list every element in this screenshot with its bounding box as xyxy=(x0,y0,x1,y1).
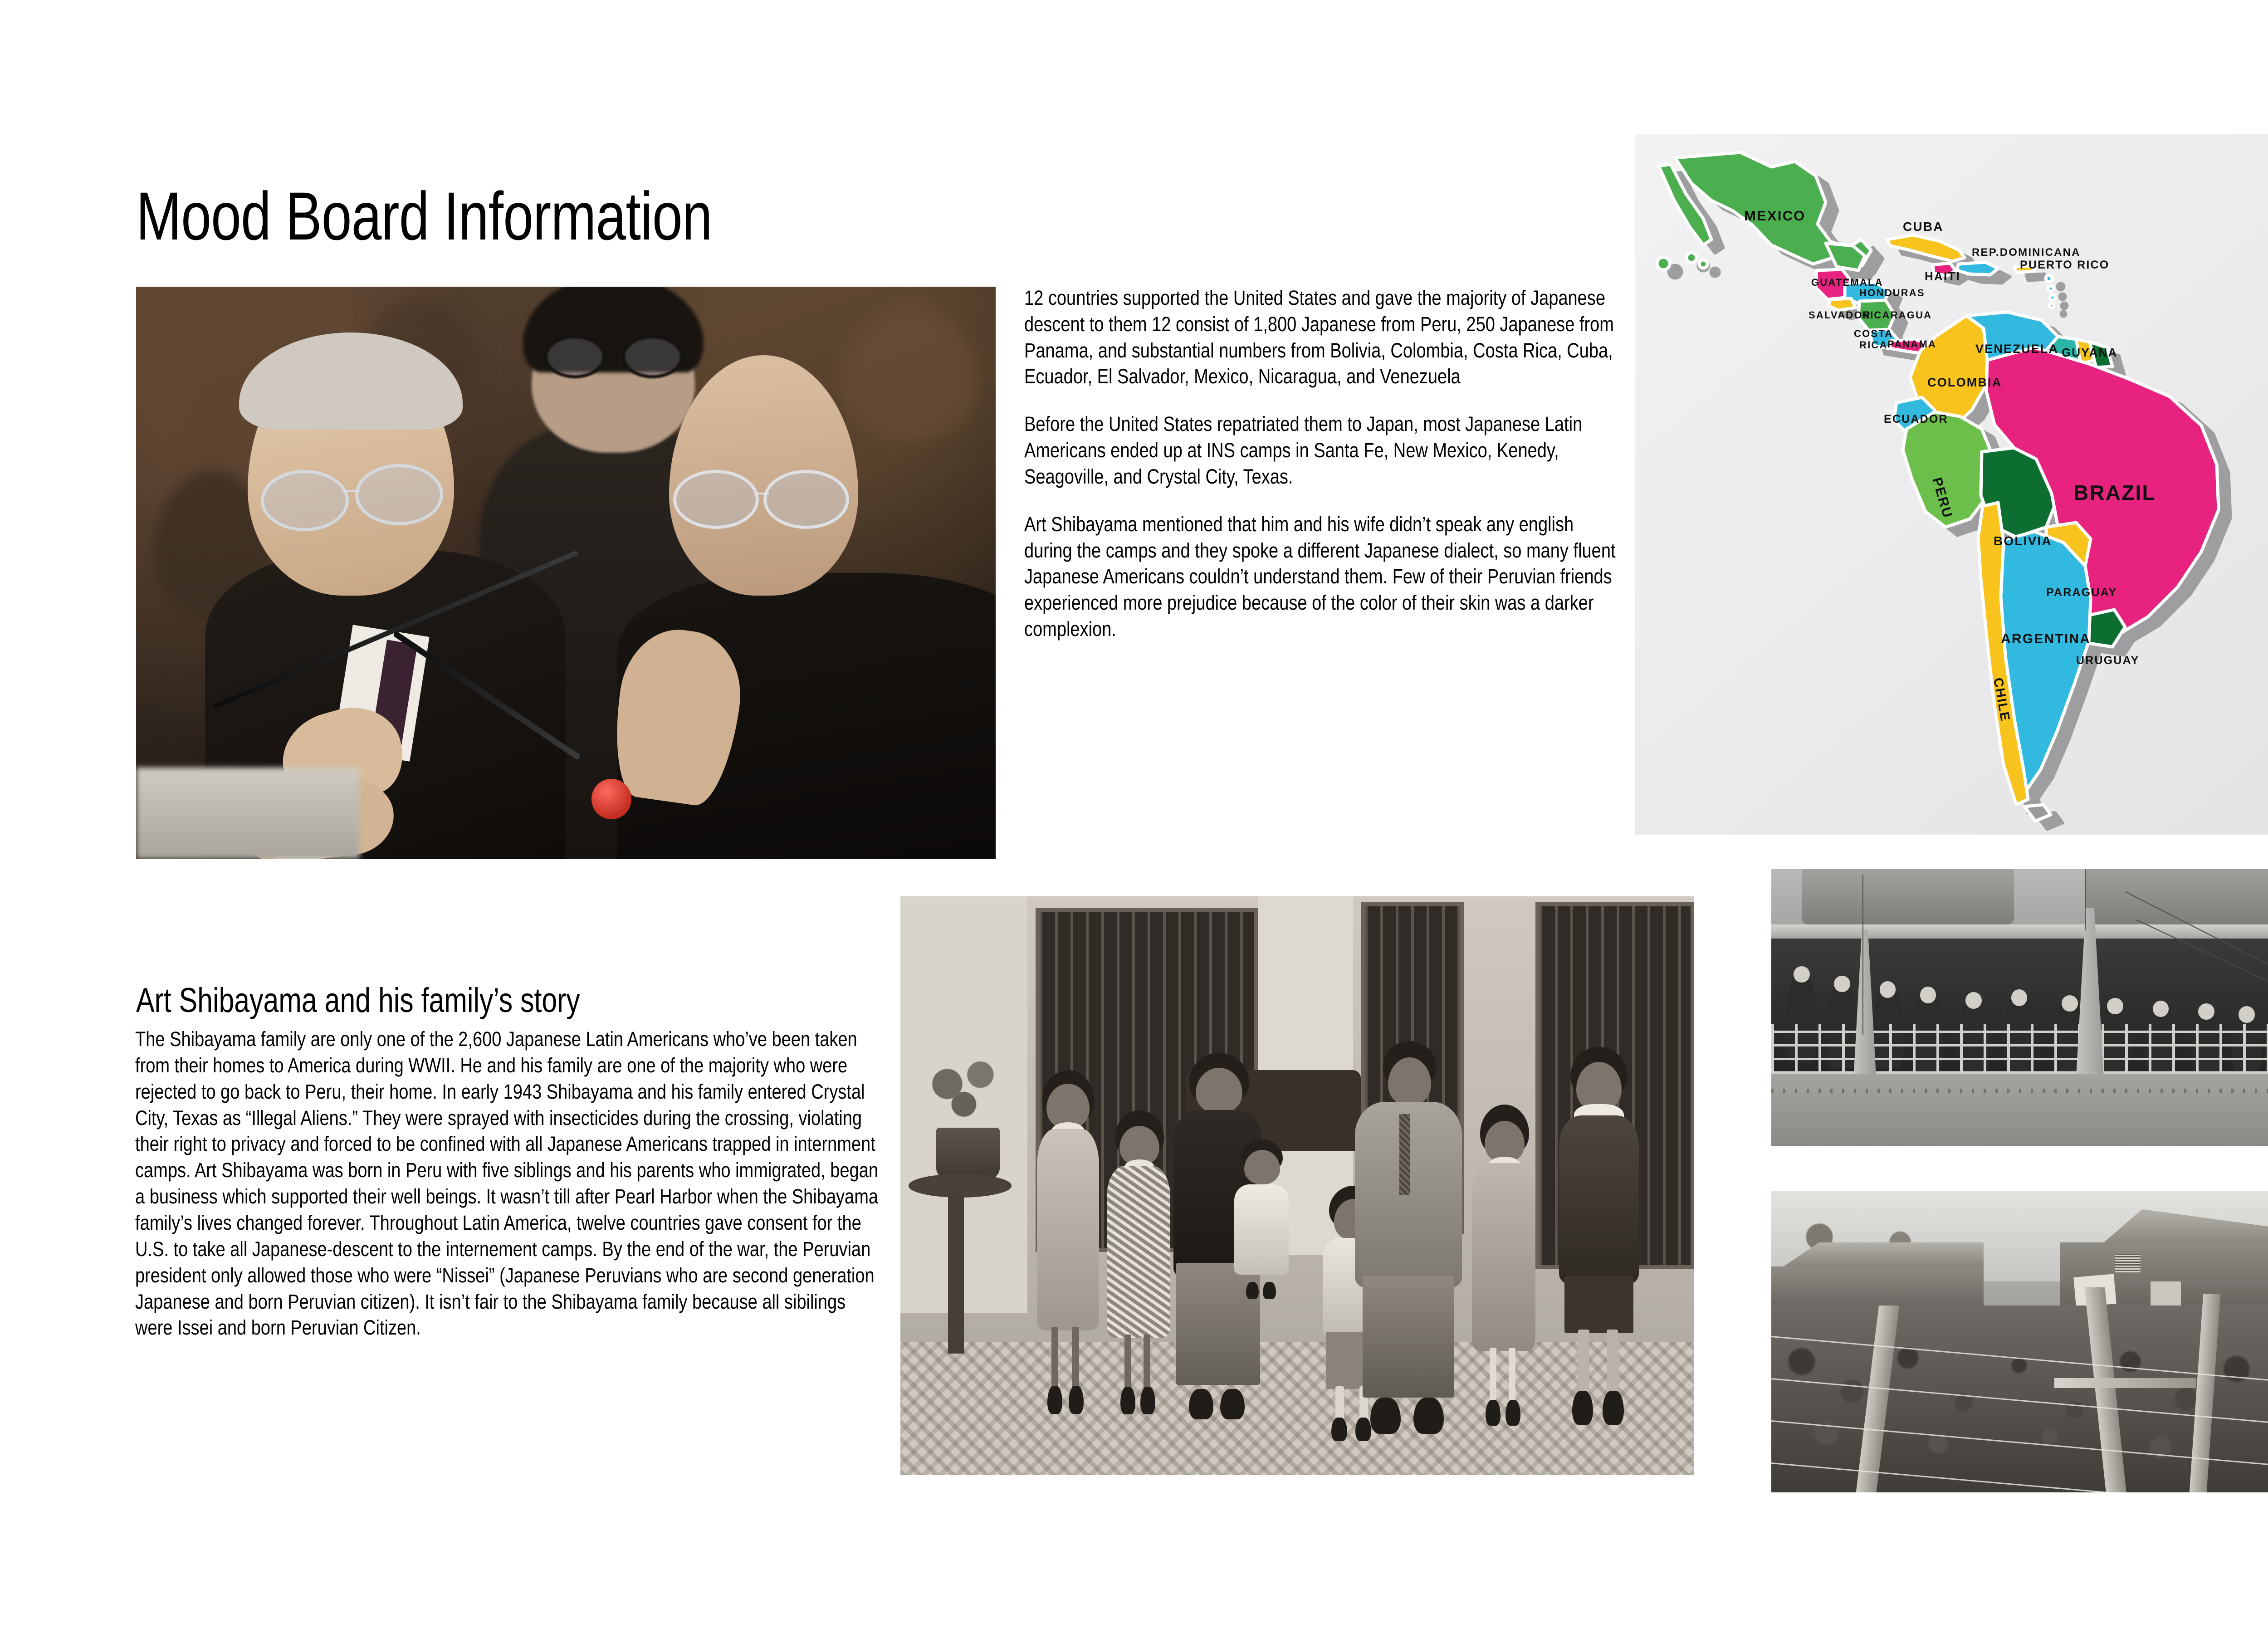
ship-deck-photo xyxy=(1771,869,2268,1146)
potted-plant-foliage xyxy=(916,1047,1020,1139)
map-label-bolivia: BOLIVIA xyxy=(1994,534,2052,548)
latin-america-map: MEXICO CUBA REP.DOMINICANA PUERTO RICO H… xyxy=(1635,134,2268,835)
intro-paragraph-2: Before the United States repatriated the… xyxy=(1024,411,1622,489)
passenger-face xyxy=(1920,987,1936,1003)
elderly-man-glasses-right xyxy=(355,464,443,525)
map-label-mexico: MEXICO xyxy=(1744,208,1806,224)
elderly-man-glasses-left xyxy=(261,470,349,531)
country-shape-tierra-del-fuego xyxy=(2024,805,2051,821)
middle-woman-glasses-left xyxy=(544,335,606,378)
family-member-father xyxy=(1345,1041,1472,1446)
island-antilles xyxy=(2046,275,2052,282)
hearing-photo xyxy=(136,287,996,859)
country-shape-dominicana xyxy=(1957,262,1998,275)
ship-funnel-right xyxy=(2085,869,2268,924)
family-portrait-photo xyxy=(900,896,1694,1475)
intro-text-column: 12 countries supported the United States… xyxy=(1024,285,1622,642)
ship-hull xyxy=(1771,1074,2268,1146)
page-title: Mood Board Information xyxy=(136,182,934,250)
passenger-face xyxy=(2198,1003,2214,1020)
passenger-face xyxy=(2107,998,2123,1015)
internment-camp-photo xyxy=(1771,1191,2268,1492)
map-label-haiti: HAITI xyxy=(1925,269,1960,283)
intro-paragraph-1: 12 countries supported the United States… xyxy=(1024,285,1622,390)
map-label-panama: PANAMA xyxy=(1887,338,1936,350)
map-label-argentina: ARGENTINA xyxy=(2001,631,2091,646)
map-label-guatemala: GUATEMALA xyxy=(1811,277,1883,288)
deck-railing xyxy=(1771,1024,2268,1074)
map-label-puertorico: PUERTO RICO xyxy=(2020,259,2109,271)
family-member-child-1 xyxy=(1027,1070,1107,1418)
map-label-honduras: HONDURAS xyxy=(1859,287,1925,298)
right-woman-glasses-left xyxy=(673,470,758,529)
passenger-face xyxy=(1834,976,1850,993)
map-label-colombia: COLOMBIA xyxy=(1927,376,2002,389)
map-label-cuba: CUBA xyxy=(1903,220,1944,234)
rigging-cable xyxy=(1862,875,1863,1035)
island-antilles xyxy=(2049,303,2054,308)
island xyxy=(1657,257,1670,270)
map-label-ecuador: ECUADOR xyxy=(1884,413,1948,425)
passenger-face xyxy=(1880,981,1896,998)
island-antilles xyxy=(2050,295,2055,300)
map-label-costarica-2: RICA xyxy=(1859,339,1888,351)
hull-rivet-line xyxy=(1771,1089,2268,1093)
flower-pot xyxy=(936,1128,1000,1180)
story-text-column: The Shibayama family are only one of the… xyxy=(135,1026,886,1341)
map-svg: MEXICO CUBA REP.DOMINICANA PUERTO RICO H… xyxy=(1635,134,2268,835)
passenger-face xyxy=(1965,992,1982,1009)
map-label-uruguay: URUGUAY xyxy=(2076,654,2140,667)
ship-funnel-left xyxy=(1802,869,2014,924)
glasses-bridge xyxy=(342,490,360,492)
barrack-vent xyxy=(2115,1254,2141,1272)
right-woman-glasses-right xyxy=(763,470,849,529)
family-member-child-5 xyxy=(1551,1047,1647,1429)
island xyxy=(1686,253,1696,263)
island-antilles xyxy=(2048,286,2053,291)
intro-paragraph-3: Art Shibayama mentioned that him and his… xyxy=(1024,511,1622,642)
passenger-face xyxy=(1794,966,1810,983)
map-label-nicaragua: NICARAGUA xyxy=(1862,309,1932,321)
glasses-bridge xyxy=(755,493,768,494)
country-shape-cuba xyxy=(1887,235,1965,261)
family-member-baby xyxy=(1226,1139,1298,1313)
side-table-leg xyxy=(948,1192,964,1354)
passenger-face xyxy=(2239,1006,2255,1023)
middle-woman-glasses-right xyxy=(622,335,683,378)
passenger-face xyxy=(2011,989,2028,1006)
island xyxy=(1699,260,1707,268)
story-paragraph: The Shibayama family are only one of the… xyxy=(135,1026,886,1341)
map-label-brazil: BRAZIL xyxy=(2073,481,2156,504)
microphone-windscreen xyxy=(591,779,631,819)
country-shape-salvador xyxy=(1828,298,1856,310)
map-label-paraguay: PARAGUAY xyxy=(2046,586,2117,599)
desk-papers xyxy=(136,768,360,859)
map-label-venezuela: VENEZUELA xyxy=(1975,342,2058,356)
family-member-child-4 xyxy=(1464,1105,1544,1429)
map-label-dominicana: REP.DOMINICANA xyxy=(1972,246,2081,259)
section-title: Art Shibayama and his family’s story xyxy=(136,983,934,1018)
fence-rail xyxy=(2054,1378,2196,1389)
map-label-guyana: GUYANA xyxy=(2062,346,2117,359)
map-label-costarica-1: COSTA xyxy=(1854,328,1893,339)
rigging-cable xyxy=(2085,869,2086,930)
passenger-face xyxy=(2062,995,2078,1012)
